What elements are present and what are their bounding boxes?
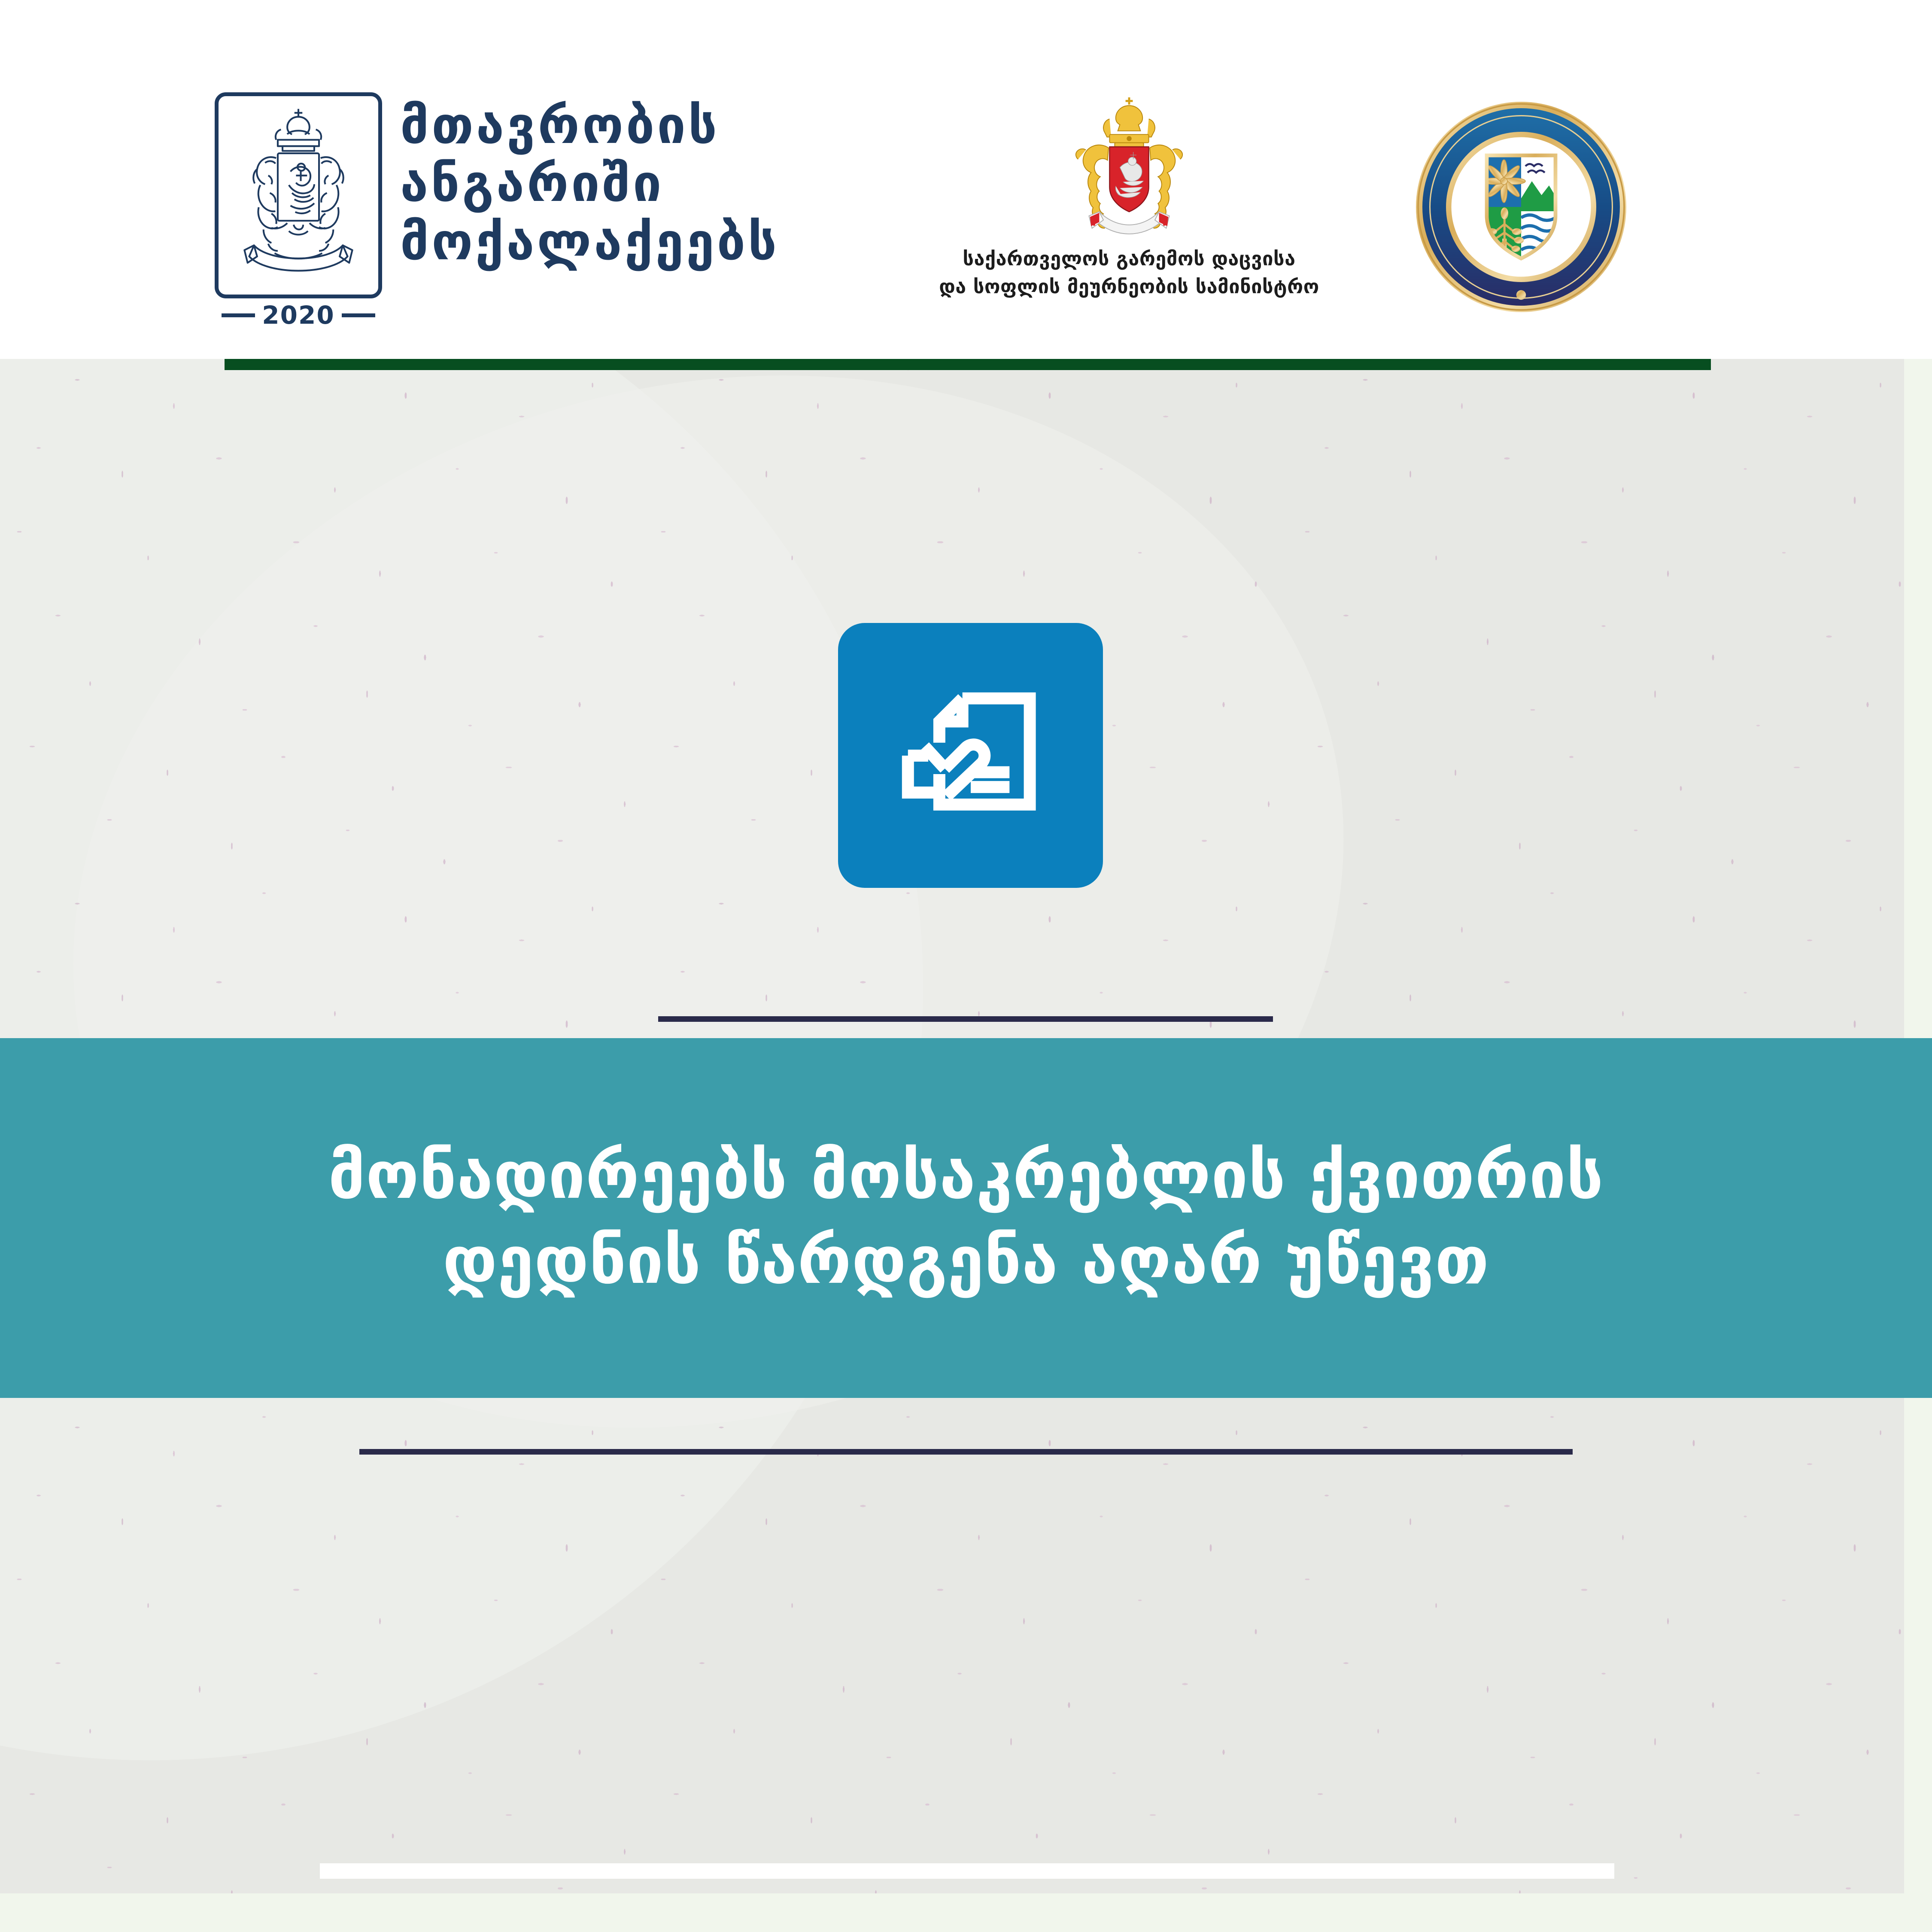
agency-seal-icon	[1414, 100, 1628, 314]
logo-year-row: 2020	[215, 303, 382, 328]
header-green-rule	[225, 359, 1711, 370]
logo-line-2: ანგარიში	[400, 156, 779, 211]
background-bottom-strip	[0, 1893, 1932, 1932]
page-title-line-1: მონადირეებს მოსაკრებლის ქვითრის	[129, 1133, 1803, 1218]
georgia-state-arms-icon	[914, 90, 1344, 245]
year-rule-right	[342, 313, 375, 317]
georgia-crest-icon	[215, 92, 382, 298]
poster-canvas: მთავრობის ანგარიში მოქალაქეებს 2020	[0, 0, 1932, 1932]
title-band: მონადირეებს მოსაკრებლის ქვითრის დედნის წ…	[0, 1038, 1932, 1398]
gov-report-logo: მთავრობის ანგარიში მოქალაქეებს	[215, 92, 779, 298]
year-rule-left	[222, 313, 255, 317]
page-title: მონადირეებს მოსაკრებლის ქვითრის დედნის წ…	[129, 1133, 1803, 1303]
divider-above-title	[658, 1016, 1273, 1022]
document-signature-icon	[838, 623, 1103, 888]
gov-report-logo-words: მთავრობის ანგარიში მოქალაქეებს	[400, 92, 779, 269]
divider-below-title	[359, 1449, 1573, 1455]
logo-line-3: მოქალაქეებს	[400, 215, 779, 269]
ministry-block: საქართველოს გარემოს დაცვისა და სოფლის მე…	[914, 90, 1344, 301]
footer-white-rule	[320, 1863, 1614, 1879]
ministry-name-line-1: საქართველოს გარემოს დაცვისა	[914, 245, 1344, 273]
logo-line-1: მთავრობის	[400, 98, 779, 153]
header-bar: მთავრობის ანგარიში მოქალაქეებს 2020	[0, 0, 1932, 359]
logo-year: 2020	[262, 303, 334, 328]
ministry-name-line-2: და სოფლის მეურნეობის სამინისტრო	[914, 273, 1344, 301]
page-title-line-2: დედნის წარდგენა აღარ უწევთ	[129, 1218, 1803, 1303]
